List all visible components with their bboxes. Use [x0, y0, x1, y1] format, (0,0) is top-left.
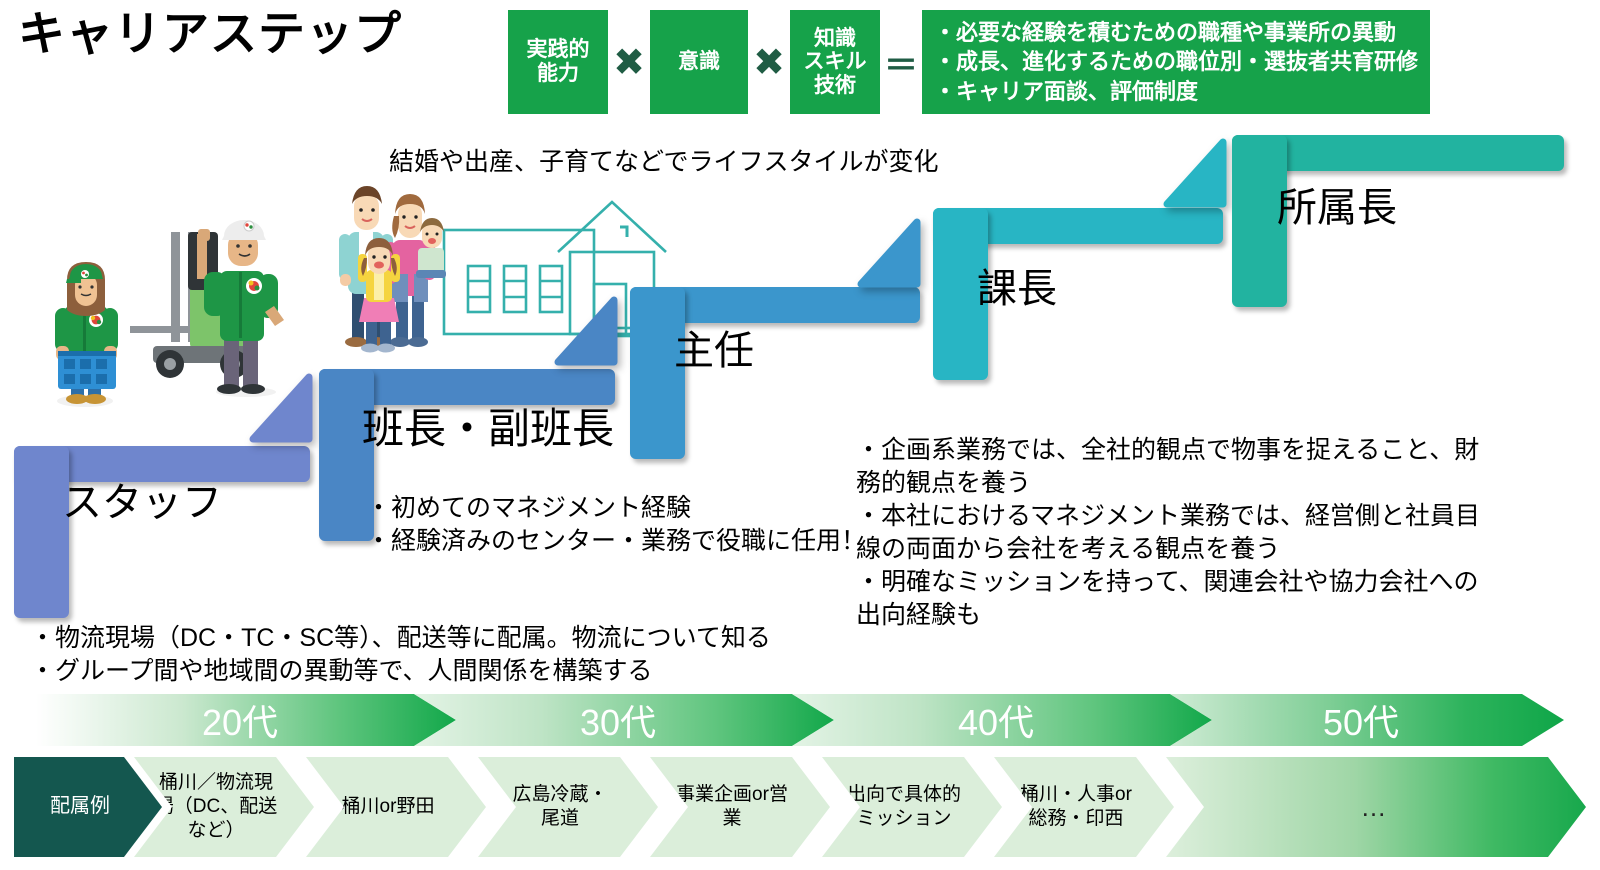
decade-label: 30代 — [580, 694, 656, 746]
chevron-line: など） — [155, 819, 277, 843]
assignment-chevron-text: 広島冷蔵・ 尾道 — [512, 783, 607, 831]
chevron-line: 桶川or野田 — [342, 795, 435, 819]
assignment-header-label: 配属例 — [50, 794, 110, 819]
formula-box-line: スキル — [804, 50, 867, 74]
note-line: ・グループ間や地域間の異動等で、人間関係を構築する — [30, 655, 771, 688]
formula-box-awareness: 意識 — [650, 10, 748, 114]
chevron-line: 広島冷蔵・ — [512, 783, 607, 807]
assignment-chevron-7[interactable]: … — [1166, 757, 1586, 857]
assignment-chevron-text: … — [1361, 791, 1392, 824]
note-line: ・企画系業務では、全社的観点で物事を捉えること、財 — [856, 434, 1480, 467]
blue-crate-icon — [58, 351, 116, 389]
multiply-icon: ✖ — [608, 10, 650, 114]
decade-label: 50代 — [1323, 694, 1399, 746]
decade-label: 40代 — [958, 694, 1034, 746]
decade-timeline: 20代 30代 40代 50代 — [36, 694, 1564, 746]
assignment-examples-row: 配属例 桶川／物流現 場（DC、配送 など） 桶川or野田 広島冷蔵・ 尾道 事… — [14, 757, 1586, 857]
step-shunin-riser-triangle — [857, 218, 919, 286]
chevron-line: 事業企画or営 — [676, 783, 788, 807]
chevron-line: 桶川・人事or — [1020, 783, 1132, 807]
note-line: ・明確なミッションを持って、関連会社や協力会社への — [856, 566, 1480, 599]
page-title: キャリアステップ — [18, 8, 402, 60]
equals-icon: ＝ — [880, 10, 922, 114]
formula-result-box: ・必要な経験を積むための職種や事業所の異動 ・成長、進化するための職位別・選抜者… — [922, 10, 1430, 114]
decade-label: 20代 — [202, 694, 278, 746]
formula-box-knowledge-skill: 知識 スキル 技術 — [790, 10, 880, 114]
step-staff-riser-triangle — [249, 373, 311, 441]
assignment-row-header: 配属例 — [14, 757, 162, 857]
assignment-chevron-text: 桶川／物流現 場（DC、配送 など） — [155, 771, 277, 843]
chevron-line: 桶川／物流現 — [155, 771, 277, 795]
formula-box-practical-ability: 実践的 能力 — [508, 10, 608, 114]
assignment-chevron-2[interactable]: 桶川or野田 — [306, 757, 486, 857]
assignment-chevron-text: 事業企画or営 業 — [676, 783, 788, 831]
step-staff-bar-vertical — [14, 446, 69, 618]
chevron-line: 業 — [676, 807, 788, 831]
lifestyle-change-note: 結婚や出産、子育てなどでライフスタイルが変化 — [389, 142, 939, 178]
result-line: ・必要な経験を積むための職種や事業所の異動 — [934, 18, 1418, 47]
formula-box-line: 意識 — [678, 50, 720, 74]
note-line: ・初めてのマネジメント経験 — [366, 492, 866, 525]
step-hancho-label: 班長・副班長 — [362, 395, 614, 456]
formula-box-line: 知識 — [814, 27, 856, 51]
assignment-chevron-3[interactable]: 広島冷蔵・ 尾道 — [478, 757, 658, 857]
formula-box-line: 実践的 — [527, 38, 590, 62]
chevron-line: 出向で具体的 — [847, 783, 961, 807]
chevron-line: 場（DC、配送 — [155, 795, 277, 819]
assignment-chevron-5[interactable]: 出向で具体的 ミッション — [822, 757, 1002, 857]
chevron-line: ミッション — [847, 807, 961, 831]
decade-segment-20s[interactable]: 20代 — [36, 694, 456, 746]
result-line: ・キャリア面談、評価制度 — [934, 77, 1418, 106]
staff-notes: ・物流現場（DC・TC・SC等）、配送等に配属。物流について知る ・グループ間や… — [30, 622, 771, 688]
step-staff-label: スタッフ — [62, 470, 222, 528]
formula-box-line: 能力 — [537, 62, 579, 86]
note-line: 務的観点を養う — [856, 467, 1480, 500]
note-line: 線の両面から会社を考える観点を養う — [856, 533, 1480, 566]
chevron-line: 尾道 — [512, 807, 607, 831]
step-shozokucho-label: 所属長 — [1277, 175, 1397, 233]
multiply-icon: ✖ — [748, 10, 790, 114]
competency-formula: 実践的 能力 ✖ 意識 ✖ 知識 スキル 技術 ＝ ・必要な経験を積むための職種… — [508, 10, 1430, 114]
step-hancho-riser-triangle — [554, 296, 616, 364]
assignment-chevron-text: 出向で具体的 ミッション — [847, 783, 961, 831]
assignment-chevron-text: 桶川・人事or 総務・印西 — [1020, 783, 1132, 831]
step-kacho-label: 課長 — [977, 256, 1057, 314]
decade-segment-50s[interactable]: 50代 — [1170, 694, 1564, 746]
formula-box-line: 技術 — [814, 74, 856, 98]
assignment-chevron-4[interactable]: 事業企画or営 業 — [650, 757, 830, 857]
hancho-notes: ・初めてのマネジメント経験 ・経験済みのセンター・業務で役職に任用！ — [366, 492, 866, 558]
step-kacho-riser-triangle — [1163, 138, 1225, 206]
note-line: 出向経験も — [856, 599, 1480, 632]
chevron-line: 総務・印西 — [1020, 807, 1132, 831]
female-worker-figure — [55, 262, 118, 407]
family-illustration — [330, 170, 460, 370]
decade-segment-40s[interactable]: 40代 — [792, 694, 1212, 746]
result-line: ・成長、進化するための職位別・選抜者共育研修 — [934, 47, 1418, 76]
note-line: ・物流現場（DC・TC・SC等）、配送等に配属。物流について知る — [30, 622, 771, 655]
step-shunin-label: 主任 — [674, 318, 754, 376]
assignment-chevron-text: 桶川or野田 — [342, 795, 435, 819]
decade-segment-30s[interactable]: 30代 — [414, 694, 834, 746]
note-line: ・経験済みのセンター・業務で役職に任用！ — [366, 525, 866, 558]
note-line: ・本社におけるマネジメント業務では、経営側と社員目 — [856, 500, 1480, 533]
manager-notes: ・企画系業務では、全社的観点で物事を捉えること、財 務的観点を養う ・本社におけ… — [856, 434, 1480, 632]
assignment-chevron-6[interactable]: 桶川・人事or 総務・印西 — [994, 757, 1174, 857]
